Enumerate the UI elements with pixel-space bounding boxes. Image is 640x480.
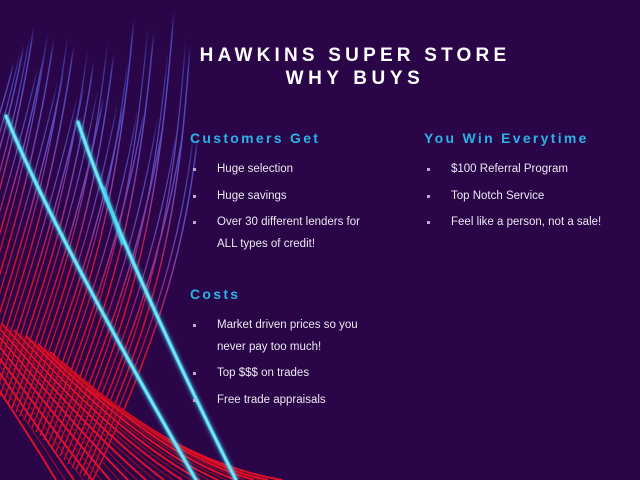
presentation-slide: HAWKINS SUPER STORE WHY BUYS Customers G… bbox=[0, 0, 640, 480]
bullet-text: Top $$$ on trades bbox=[217, 363, 400, 385]
section-you-win-everytime: You Win Everytime $100 Referral Program … bbox=[424, 130, 629, 239]
bullet-dot-icon bbox=[193, 324, 196, 327]
bullet-dot-icon bbox=[427, 221, 430, 224]
bullet-list-costs: Market driven prices so you never pay to… bbox=[190, 315, 400, 411]
bullet-text: Market driven prices so you bbox=[217, 315, 400, 337]
bullet-list-customers-get: Huge selection Huge savings Over 30 diff… bbox=[190, 159, 400, 255]
list-item: Over 30 different lenders for ALL types … bbox=[190, 212, 400, 255]
list-item: Top Notch Service bbox=[424, 186, 629, 208]
bullet-text: Huge savings bbox=[217, 186, 400, 208]
list-item: $100 Referral Program bbox=[424, 159, 629, 181]
section-heading-customers-get: Customers Get bbox=[190, 130, 400, 146]
section-customers-get: Customers Get Huge selection Huge saving… bbox=[190, 130, 400, 260]
bullet-text-continuation: ALL types of credit! bbox=[217, 234, 400, 256]
bullet-dot-icon bbox=[427, 195, 430, 198]
section-heading-you-win-everytime: You Win Everytime bbox=[424, 130, 629, 146]
slide-title: HAWKINS SUPER STORE WHY BUYS bbox=[160, 44, 550, 90]
list-item: Huge selection bbox=[190, 159, 400, 181]
bullet-dot-icon bbox=[427, 168, 430, 171]
bullet-dot-icon bbox=[193, 168, 196, 171]
slide-title-line-2: WHY BUYS bbox=[160, 67, 550, 90]
list-item: Market driven prices so you never pay to… bbox=[190, 315, 400, 358]
bullet-text: $100 Referral Program bbox=[451, 159, 629, 181]
bullet-dot-icon bbox=[193, 399, 196, 402]
bullet-list-you-win-everytime: $100 Referral Program Top Notch Service … bbox=[424, 159, 629, 234]
list-item: Huge savings bbox=[190, 186, 400, 208]
bullet-text: Top Notch Service bbox=[451, 186, 629, 208]
list-item: Free trade appraisals bbox=[190, 390, 400, 412]
bullet-text: Huge selection bbox=[217, 159, 400, 181]
bullet-text: Free trade appraisals bbox=[217, 390, 400, 412]
bullet-dot-icon bbox=[193, 221, 196, 224]
section-heading-costs: Costs bbox=[190, 286, 400, 302]
list-item: Top $$$ on trades bbox=[190, 363, 400, 385]
list-item: Feel like a person, not a sale! bbox=[424, 212, 629, 234]
bullet-text-continuation: never pay too much! bbox=[217, 337, 400, 359]
bullet-text: Over 30 different lenders for bbox=[217, 212, 400, 234]
bullet-dot-icon bbox=[193, 195, 196, 198]
bullet-dot-icon bbox=[193, 372, 196, 375]
slide-title-line-1: HAWKINS SUPER STORE bbox=[160, 44, 550, 67]
bullet-text: Feel like a person, not a sale! bbox=[451, 212, 629, 234]
section-costs: Costs Market driven prices so you never … bbox=[190, 286, 400, 416]
